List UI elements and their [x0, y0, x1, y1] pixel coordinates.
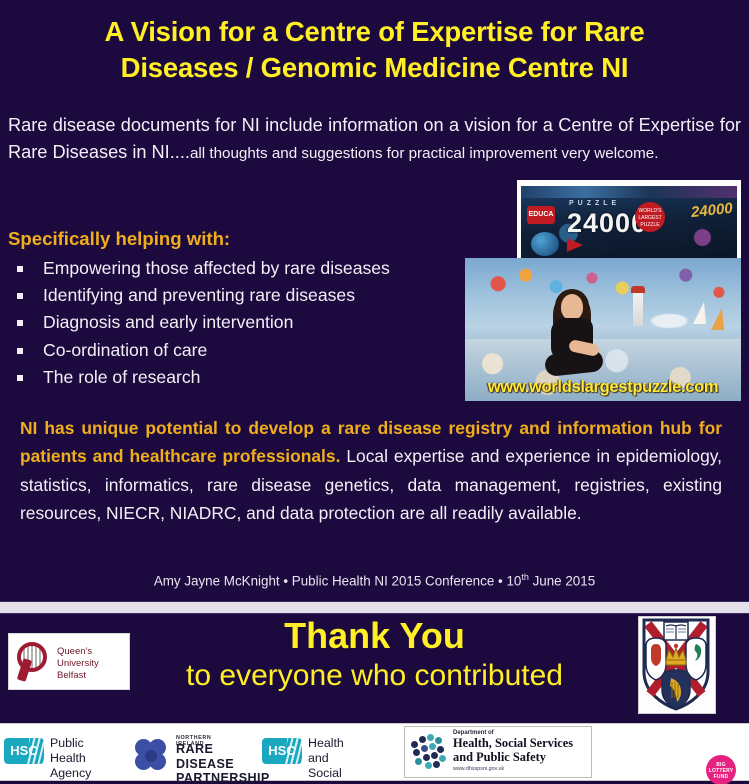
puzzle-photo-image: www.worldslargestpuzzle.com — [465, 258, 741, 401]
queens-university-belfast-logo: Queen's University Belfast — [8, 633, 130, 690]
list-item: The role of research — [8, 364, 478, 391]
nirdp-line2: PARTNERSHIP — [176, 771, 270, 784]
slide-title-line1: A Vision for a Centre of Expertise for R… — [104, 16, 644, 47]
credit-date-day: 10 — [506, 573, 521, 588]
logo-dot — [435, 737, 442, 744]
lighthouse-icon — [633, 292, 643, 326]
hscb-line1: Health and Social — [308, 736, 344, 781]
blf-line3: FUND — [706, 774, 736, 780]
logo-dot — [427, 734, 434, 741]
globe-graphic-icon — [531, 232, 559, 256]
credit-date-ordinal: th — [521, 572, 529, 582]
dhssps-logo: Department of Health, Social Services an… — [404, 726, 592, 778]
square-bullet-icon — [17, 266, 23, 272]
section-heading: Specifically helping with: — [8, 227, 230, 251]
logo-dot — [419, 736, 426, 743]
puzzle-word-label: PUZZLE — [569, 200, 620, 207]
logo-dot — [433, 761, 440, 768]
square-bullet-icon — [17, 375, 23, 381]
list-item-label: Empowering those affected by rare diseas… — [43, 258, 390, 278]
list-item: Empowering those affected by rare diseas… — [8, 255, 478, 282]
logo-dot — [431, 752, 438, 759]
logo-dot — [429, 743, 436, 750]
list-item-label: The role of research — [43, 367, 200, 387]
section-divider — [0, 601, 749, 614]
intro-small-text: all thoughts and suggestions for practic… — [190, 145, 659, 162]
logo-dot — [421, 745, 428, 752]
highlight-paragraph: NI has unique potential to develop a rar… — [20, 414, 722, 528]
head-shape — [561, 294, 583, 320]
puzzle-seal-badge: WORLD'S LARGEST PUZZLE — [635, 202, 665, 232]
list-item-label: Identifying and preventing rare diseases — [43, 285, 355, 305]
queens-university-crest — [638, 616, 714, 712]
credit-separator: • — [283, 573, 288, 588]
big-lottery-fund-logo: BIG LOTTERY FUND — [706, 755, 736, 784]
logo-dot — [413, 749, 420, 756]
dhssps-line2: and Public Safety — [453, 751, 573, 765]
slide-title-line2: Diseases / Genomic Medicine Centre NI — [0, 50, 749, 86]
qub-q-mark-icon — [17, 642, 51, 680]
slide-title: A Vision for a Centre of Expertise for R… — [0, 14, 749, 86]
pha-label: Public Health Agency — [50, 736, 91, 781]
list-item: Diagnosis and early intervention — [8, 309, 478, 336]
dhssps-url[interactable]: www.dhsspsni.gov.uk — [453, 766, 504, 772]
logo-dot — [437, 746, 444, 753]
footer-logo-bar: HSC Public Health Agency NORTHERN IRELAN… — [0, 723, 749, 781]
credit-date-rest: June 2015 — [533, 573, 596, 588]
puzzle-box-lid — [521, 186, 737, 198]
list-item: Identifying and preventing rare diseases — [8, 282, 478, 309]
hscb-label: Health and Social Care Board — [308, 736, 344, 784]
dhssps-dots-icon — [411, 734, 447, 770]
logo-dot — [439, 755, 446, 762]
slide-credit-line: Amy Jayne McKnight • Public Health NI 20… — [0, 572, 749, 588]
square-bullet-icon — [17, 320, 23, 326]
square-bullet-icon — [17, 348, 23, 354]
intro-paragraph: Rare disease documents for NI include in… — [8, 112, 741, 167]
crest-shield-icon — [638, 616, 714, 712]
logo-dot — [425, 762, 432, 769]
triangle-graphic-icon — [567, 238, 583, 252]
puzzle-website-url: www.worldslargestpuzzle.com — [465, 378, 741, 397]
qub-name-line2: Belfast — [57, 670, 129, 682]
pha-line1: Public Health — [50, 736, 91, 766]
credit-event: Public Health NI 2015 Conference — [292, 573, 494, 588]
square-bullet-icon — [17, 293, 23, 299]
flower-icon — [134, 739, 168, 773]
puzzle-box-image: EDUCA PUZZLE 24000 WORLD'S LARGEST PUZZL… — [517, 180, 741, 266]
logo-dot — [423, 754, 430, 761]
person-photo-figure — [541, 294, 607, 382]
qub-logo-text: Queen's University Belfast — [57, 646, 129, 682]
pha-line2: Agency — [50, 766, 91, 781]
list-item-label: Co-ordination of care — [43, 340, 207, 360]
nirdp-name-label: RARE DISEASE PARTNERSHIP — [176, 742, 270, 784]
flower-centre — [145, 750, 157, 762]
bullet-list: Empowering those affected by rare diseas… — [8, 255, 478, 391]
credit-author: Amy Jayne McKnight — [154, 573, 280, 588]
hsc-badge-icon: HSC — [4, 738, 44, 764]
presentation-slide: A Vision for a Centre of Expertise for R… — [0, 0, 749, 784]
hsc-badge-icon: HSC — [262, 738, 302, 764]
credit-separator: • — [498, 573, 503, 588]
list-item-label: Diagnosis and early intervention — [43, 312, 293, 332]
qub-name-line1: Queen's University — [57, 646, 129, 670]
sailboat-icon — [711, 308, 724, 330]
logo-dot — [415, 758, 422, 765]
sailboat-icon — [693, 302, 706, 324]
logo-dot — [411, 741, 418, 748]
educa-brand-label: EDUCA — [527, 206, 555, 224]
dhssps-name-label: Health, Social Services and Public Safet… — [453, 737, 573, 764]
list-item: Co-ordination of care — [8, 337, 478, 364]
nirdp-line1: RARE DISEASE — [176, 742, 270, 771]
dhssps-line1: Health, Social Services — [453, 737, 573, 751]
